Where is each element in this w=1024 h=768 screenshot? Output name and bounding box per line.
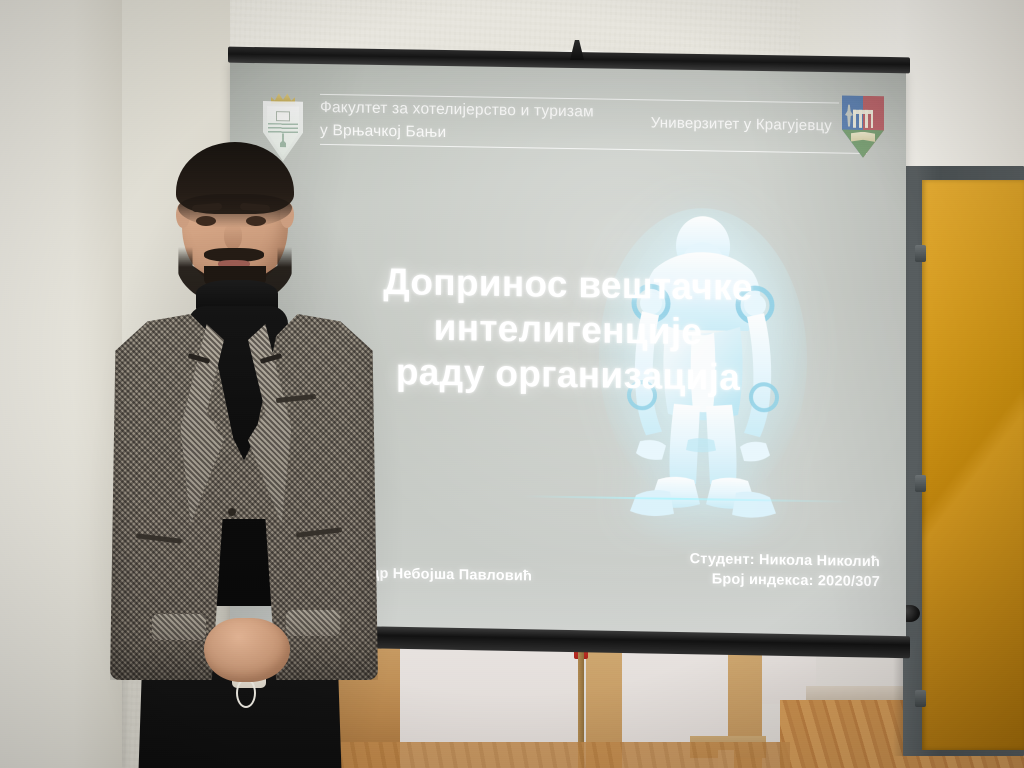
presenter-blazer-button bbox=[228, 508, 236, 516]
presenter-eye-left bbox=[196, 216, 216, 226]
university-shield-crest-icon bbox=[842, 95, 884, 158]
slide-footer-right: Студент: Никола Николић Број индекса: 20… bbox=[690, 549, 880, 593]
door-hinge-bottom-icon bbox=[915, 690, 926, 707]
presenter-nose bbox=[224, 224, 242, 250]
university-block: Универзитет у Крагујевцу bbox=[651, 92, 884, 158]
slide-header-text: Факултет за хотелијерство и туризам у Вр… bbox=[320, 92, 884, 154]
presenter-hands bbox=[204, 618, 290, 682]
university-name: Универзитет у Крагујевцу bbox=[651, 115, 832, 135]
door-hinge-top-icon bbox=[915, 245, 926, 262]
door-hinge-middle-icon bbox=[915, 475, 926, 492]
room-door[interactable] bbox=[922, 180, 1024, 750]
wood-floor-back bbox=[330, 742, 790, 768]
index-number-line: Број индекса: 2020/307 bbox=[690, 569, 880, 593]
presenter bbox=[100, 138, 390, 768]
presenter-cuff-right bbox=[286, 610, 340, 636]
face-mask-strap bbox=[236, 678, 256, 708]
photo-scene: Факултет за хотелијерство и туризам у Вр… bbox=[0, 0, 1024, 768]
presenter-eye-right bbox=[246, 216, 266, 226]
presenter-cuff-left bbox=[152, 614, 206, 640]
